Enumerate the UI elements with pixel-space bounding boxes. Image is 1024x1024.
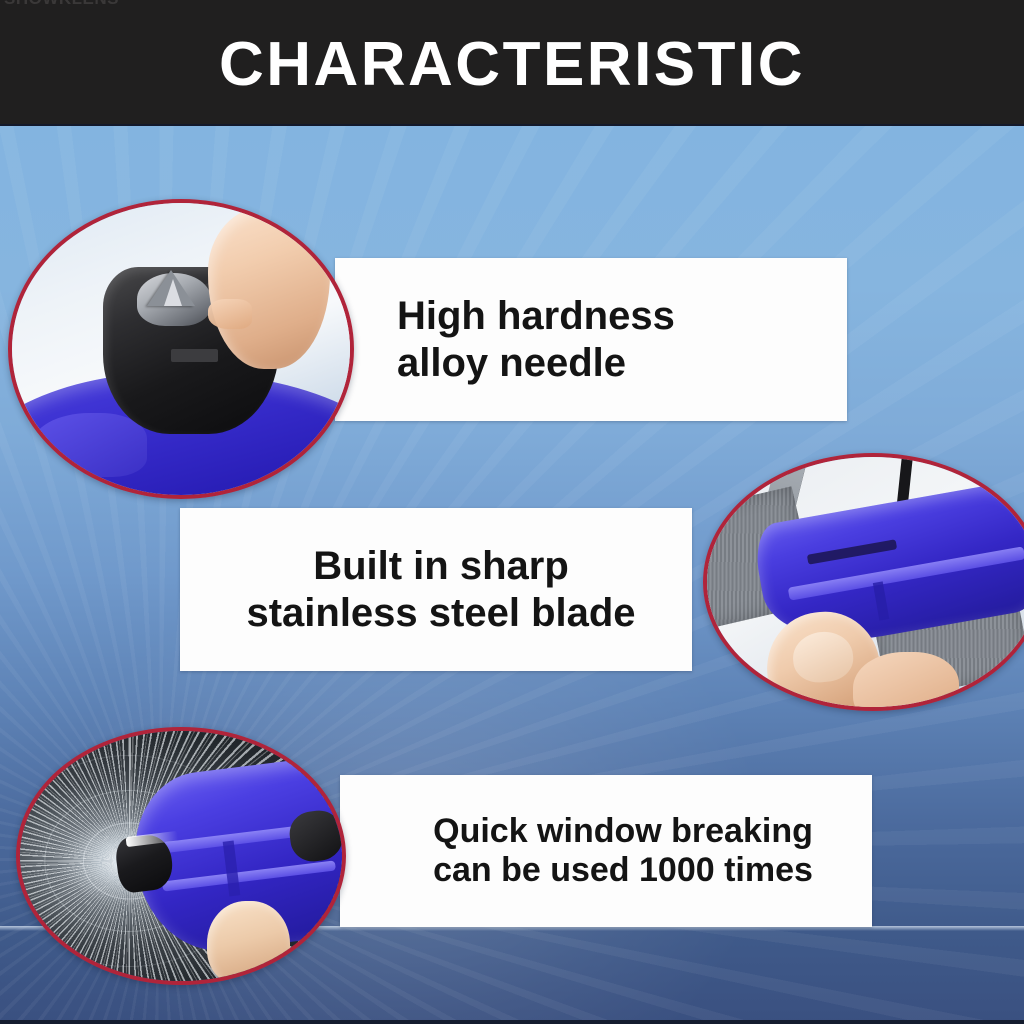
page-title: CHARACTERISTIC <box>0 34 1024 96</box>
photo-steel-blade <box>707 457 1024 707</box>
tool-cap-slot <box>171 349 218 362</box>
feature-caption-text-1: High hardness alloy needle <box>397 293 675 386</box>
product-characteristic-infographic: SHOWKLENS CHARACTERISTIC High hardness a… <box>0 0 1024 1024</box>
feature-photo-1-alloy-needle <box>8 199 354 499</box>
feature-photo-2-steel-blade <box>703 453 1024 711</box>
feature-caption-plate-1: High hardness alloy needle <box>335 258 847 421</box>
finger-knuckle <box>853 652 959 707</box>
feature-photo-3-window-breaking <box>16 727 346 985</box>
photo-alloy-needle <box>12 203 350 495</box>
finger <box>207 901 291 981</box>
alloy-needle-highlight <box>164 279 182 306</box>
background-bottom-edge <box>0 1020 1024 1024</box>
feature-caption-plate-3: Quick window breaking can be used 1000 t… <box>340 775 872 927</box>
feature-caption-text-3: Quick window breaking can be used 1000 t… <box>433 812 813 891</box>
feature-caption-text-2: Built in sharp stainless steel blade <box>246 543 635 636</box>
photo-window-breaking <box>20 731 342 981</box>
header-banner: SHOWKLENS CHARACTERISTIC <box>0 0 1024 126</box>
thumb-crease <box>208 299 252 328</box>
tool-blue-notch <box>32 413 147 477</box>
brand-watermark: SHOWKLENS <box>4 0 119 9</box>
feature-caption-plate-2: Built in sharp stainless steel blade <box>180 508 692 671</box>
